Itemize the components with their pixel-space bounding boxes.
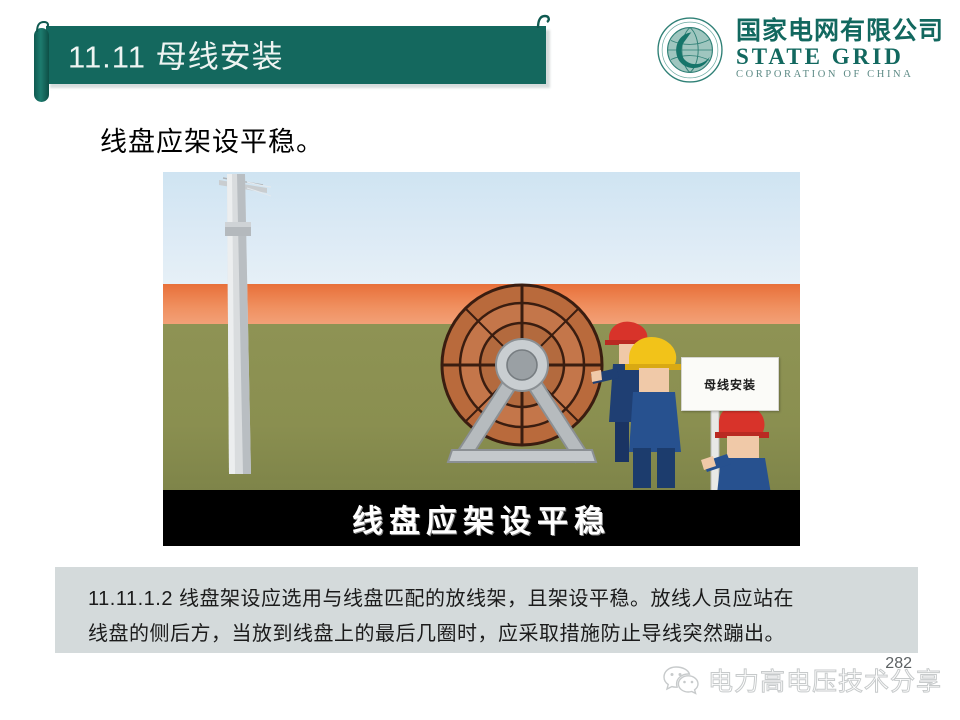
site-sign-text: 母线安装: [704, 376, 756, 393]
brand-name-cn: 国家电网有限公司: [736, 18, 944, 44]
banner-scroll-roll: [34, 28, 49, 102]
note-line-2: 线盘的侧后方，当放到线盘上的最后几圈时，应采取措施防止导线突然蹦出。: [88, 617, 785, 646]
watermark: 电力高电压技术分享: [663, 662, 942, 698]
title-banner: 11.11 母线安装: [46, 26, 546, 84]
watermark-text: 电力高电压技术分享: [708, 662, 942, 698]
illustration-caption: 线盘应架设平稳: [352, 496, 611, 541]
note-line-1: 11.11.1.2 线盘架设应选用与线盘匹配的放线架，且架设平稳。放线人员应站在: [88, 582, 794, 611]
illustration-caption-bar: 线盘应架设平稳: [163, 490, 800, 546]
slide-canvas: 11.11 母线安装 国家电网有限公司 STATE GRID CORPORATI…: [0, 0, 960, 720]
page-title: 11.11 母线安装: [68, 32, 284, 77]
state-grid-globe-icon: [656, 16, 724, 84]
brand-name-en: STATE GRID: [736, 44, 944, 69]
utility-pole: [211, 174, 271, 474]
site-sign-post: [711, 398, 719, 494]
site-sign-board: 母线安装: [681, 357, 779, 411]
brand-logo: 国家电网有限公司 STATE GRID CORPORATION OF CHINA: [656, 14, 944, 86]
lead-text: 线盘应架设平稳。: [100, 120, 324, 159]
illustration-image: 母线安装 线盘应架设平稳: [163, 172, 800, 546]
brand-logo-text: 国家电网有限公司 STATE GRID CORPORATION OF CHINA: [736, 18, 944, 82]
wechat-icon: [663, 665, 699, 695]
brand-subtitle-en: CORPORATION OF CHINA: [736, 69, 944, 82]
worker-yellow-helmet: [625, 337, 681, 488]
note-box: 11.11.1.2 线盘架设应选用与线盘匹配的放线架，且架设平稳。放线人员应站在…: [55, 567, 918, 653]
banner-curl-right-icon: [536, 14, 552, 30]
banner-curl-left-icon: [36, 21, 50, 33]
